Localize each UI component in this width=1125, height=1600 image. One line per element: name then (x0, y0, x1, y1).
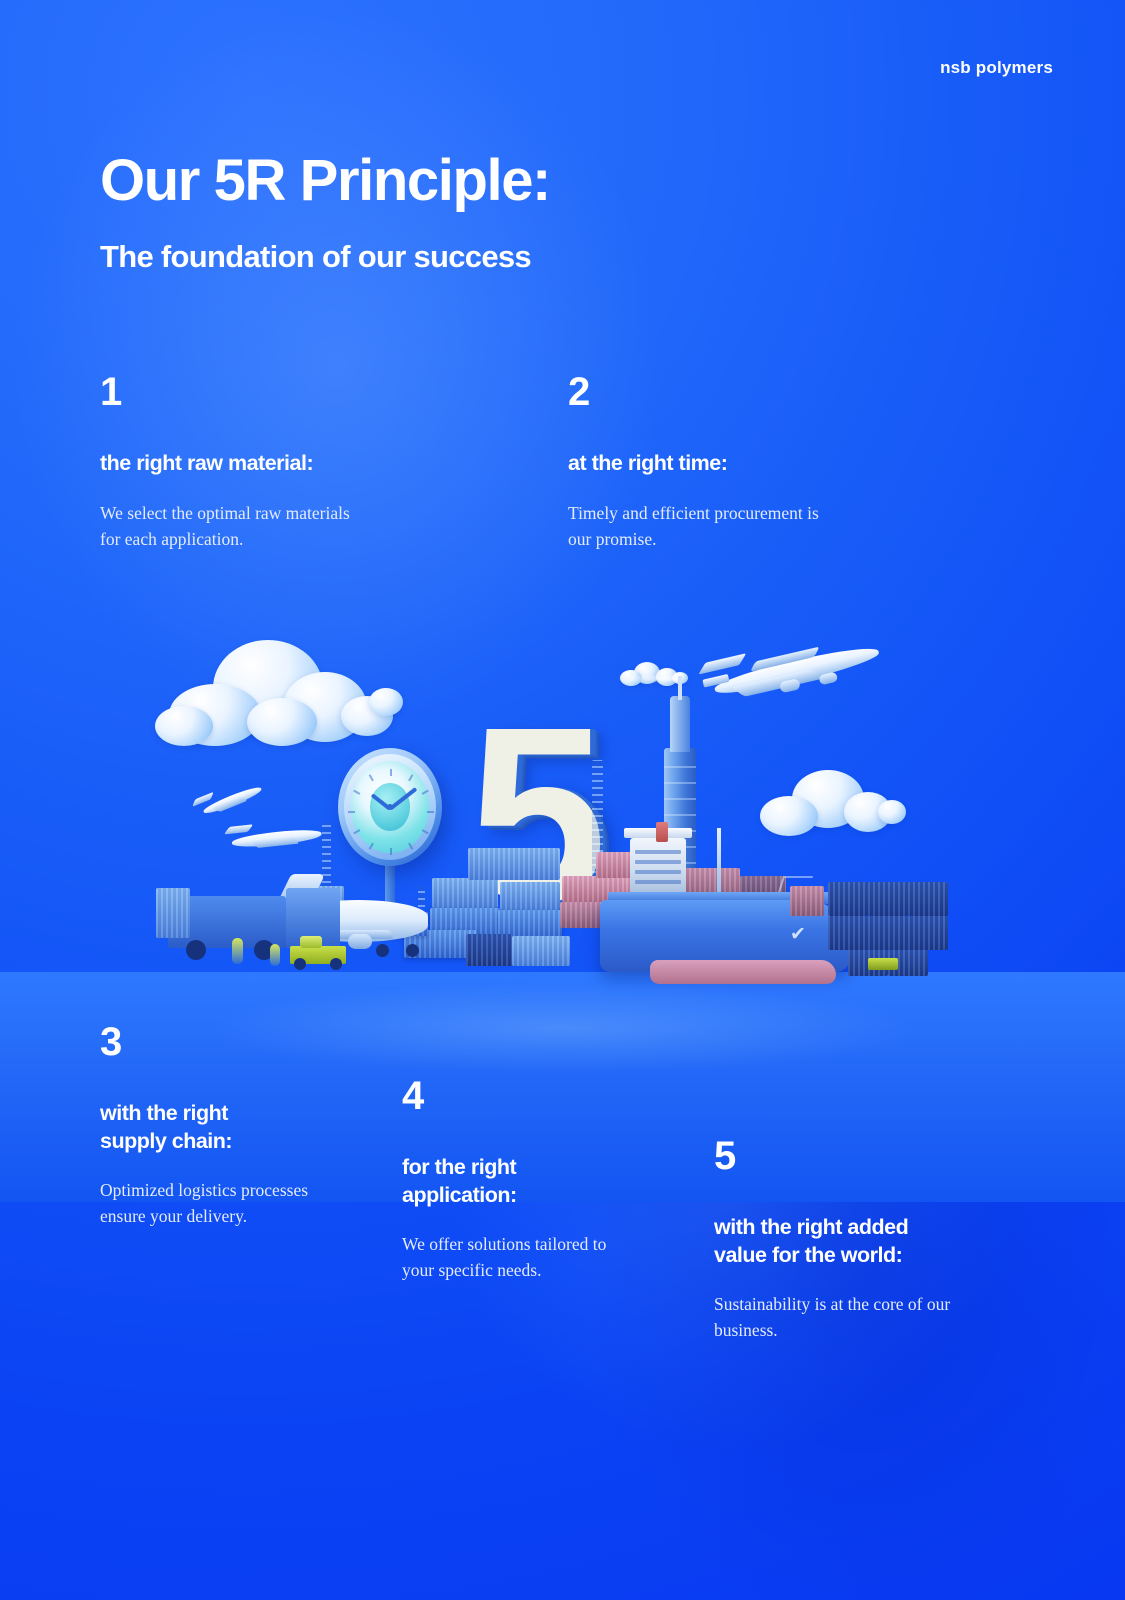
page-title: Our 5R Principle: (100, 152, 550, 210)
principle-body-2: Timely and efficient procurement is our … (568, 500, 903, 553)
principle-body-5: Sustainability is at the core of our bus… (714, 1291, 1024, 1344)
airplane-icon (694, 619, 887, 735)
brand-logo: nsb polymers (940, 58, 1053, 78)
ship-superstructure (630, 838, 686, 896)
principle-number-3: 3 (100, 1022, 380, 1062)
clock-post (385, 862, 395, 904)
principle-item-1: 1 the right raw material: We select the … (100, 372, 430, 552)
hero-illustration: 5 (0, 600, 1125, 1000)
principle-number-4: 4 (402, 1076, 677, 1116)
airplane-wheel (406, 944, 419, 957)
gse-wheel (294, 958, 306, 970)
ground-support-vehicle (868, 958, 898, 970)
principle-item-3: 3 with the right supply chain: Optimized… (100, 1022, 380, 1230)
principle-number-2: 2 (568, 372, 903, 412)
principle-body-1: We select the optimal raw materials for … (100, 500, 430, 553)
principle-item-5: 5 with the right added value for the wor… (714, 1136, 1024, 1344)
ground-support-vehicle (300, 936, 322, 948)
shipping-container (466, 934, 512, 966)
ground-worker (270, 944, 280, 966)
ship-funnel (656, 822, 668, 842)
truck-wheel (186, 940, 206, 960)
ground-worker (232, 938, 243, 964)
shipping-container (156, 888, 190, 938)
analog-clock-icon (338, 748, 442, 866)
contrail (616, 676, 680, 681)
principle-heading-2: at the right time: (568, 450, 903, 478)
shipping-container (432, 878, 498, 908)
ship-bulbous-bow (650, 960, 836, 984)
cloud-icon (155, 640, 405, 745)
principle-body-4: We offer solutions tailored to your spec… (402, 1231, 677, 1284)
principle-heading-5: with the right added value for the world… (714, 1214, 1024, 1269)
shipping-container (828, 882, 868, 916)
page-subtitle: The foundation of our success (100, 240, 531, 274)
principle-item-2: 2 at the right time: Timely and efficien… (568, 372, 903, 552)
airplane-wheel (376, 944, 389, 957)
shipping-container (500, 882, 560, 910)
shipping-container (512, 936, 570, 966)
principle-item-4: 4 for the right application: We offer so… (402, 1076, 677, 1284)
shipping-container (468, 848, 560, 880)
shipping-container (908, 882, 948, 916)
shipping-container (828, 916, 868, 950)
check-mark-icon: ✔ (790, 928, 812, 942)
principle-body-3: Optimized logistics processes ensure you… (100, 1177, 380, 1230)
airplane-engine (348, 934, 372, 949)
poster-canvas: nsb polymers Our 5R Principle: The found… (0, 0, 1125, 1600)
shipping-container (868, 916, 908, 950)
cloud-icon (760, 770, 910, 836)
shipping-container (790, 886, 824, 916)
gse-wheel (330, 958, 342, 970)
airplane-icon (226, 817, 325, 865)
principle-heading-3: with the right supply chain: (100, 1100, 380, 1155)
principle-heading-1: the right raw material: (100, 450, 430, 478)
shipping-container (908, 916, 948, 950)
shipping-container (868, 882, 908, 916)
principle-number-1: 1 (100, 372, 430, 412)
principle-number-5: 5 (714, 1136, 1024, 1176)
principle-heading-4: for the right application: (402, 1154, 677, 1209)
